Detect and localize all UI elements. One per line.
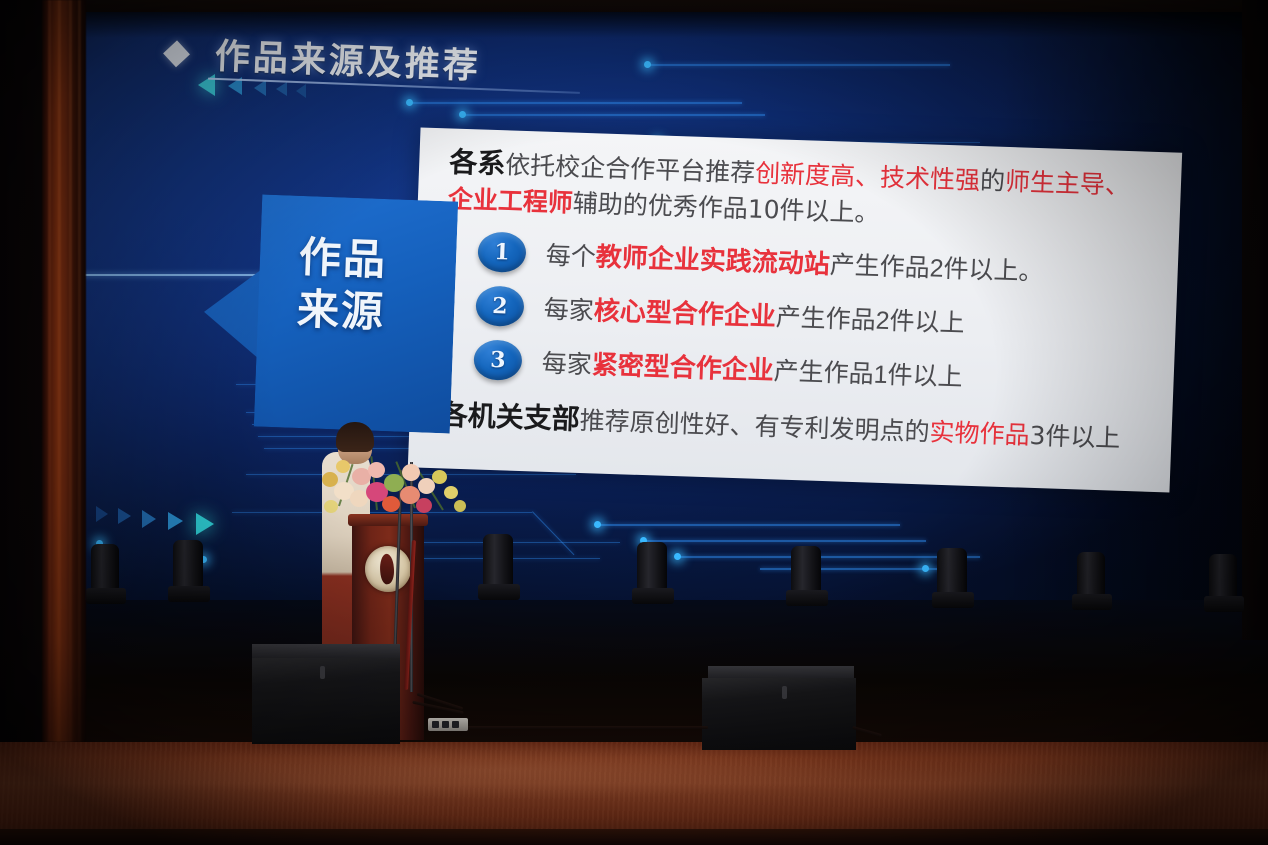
moving-head-light <box>478 534 520 600</box>
moving-head-light <box>1204 554 1244 612</box>
slide-section-tag: 作品 来源 <box>222 198 454 430</box>
tail-mid: 推荐原创性好、有专利发明点的 <box>579 406 930 447</box>
flower-bouquet-icon <box>318 452 470 538</box>
slide-content-panel: 各系依托校企合作平台推荐创新度高、技术性强的师生主导、 企业工程师辅助的优秀作品… <box>408 127 1182 492</box>
badge-number-1: 1 <box>477 231 526 273</box>
floor-monitor-speaker <box>252 644 402 744</box>
tag-line-1: 作品 <box>298 231 450 288</box>
list-item-text: 每个教师企业实践流动站产生作品2件以上。 <box>545 235 1044 288</box>
tail-bold: 各机关支部 <box>439 398 580 436</box>
list-item-text: 每家紧密型合作企业产生作品1件以上 <box>541 343 963 394</box>
school-emblem-icon <box>365 546 411 592</box>
moving-head-light <box>786 546 828 606</box>
tail-highlight: 实物作品 <box>929 418 1030 450</box>
moving-head-light <box>632 542 674 604</box>
badge-number-3: 3 <box>473 339 522 381</box>
item1-prefix: 每个 <box>545 242 596 272</box>
stage-floor <box>0 742 1268 845</box>
lead-part3: 创新度高、技术性强 <box>755 159 981 195</box>
slide-content-wrapper: 各系依托校企合作平台推荐创新度高、技术性强的师生主导、 企业工程师辅助的优秀作品… <box>0 0 1268 845</box>
lead-part1: 各系 <box>449 145 506 180</box>
stage-curtain <box>42 0 86 742</box>
item3-highlight: 紧密型合作企业 <box>591 349 774 385</box>
stage-photo: 作品来源及推荐 各系依托校企合作平台推荐创新度高、技术性强的师生主导、 企业工程… <box>0 0 1268 845</box>
tail-suffix: 3件以上 <box>1029 421 1121 453</box>
item3-prefix: 每家 <box>541 350 592 380</box>
item2-highlight: 核心型合作企业 <box>593 295 776 331</box>
badge-label: 3 <box>473 339 522 381</box>
moving-head-light <box>932 548 974 608</box>
floor-cable <box>466 726 708 729</box>
tag-text: 作品 来源 <box>296 231 450 340</box>
tag-line-2: 来源 <box>296 283 448 340</box>
item2-prefix: 每家 <box>543 296 594 326</box>
item2-suffix: 产生作品2件以上 <box>775 303 965 337</box>
speaker-hair <box>336 422 374 452</box>
moving-head-light <box>86 544 126 604</box>
moving-head-light <box>168 540 210 602</box>
badge-label: 2 <box>475 285 524 327</box>
power-strip <box>428 718 468 731</box>
lead-line2-red: 企业工程师 <box>447 184 573 217</box>
hall-right-wall <box>1242 0 1268 640</box>
item1-suffix: 产生作品2件以上。 <box>829 251 1044 286</box>
item3-suffix: 产生作品1件以上 <box>773 357 963 391</box>
lead-part4: 的 <box>979 166 1005 196</box>
badge-label: 1 <box>477 231 526 273</box>
floor-monitor-speaker <box>702 666 856 750</box>
lead-part5: 师生主导、 <box>1004 167 1130 200</box>
list-item-text: 每家核心型合作企业产生作品2件以上 <box>543 289 965 340</box>
stage-front-edge <box>0 829 1268 845</box>
badge-number-2: 2 <box>475 285 524 327</box>
lead-line2-rest: 辅助的优秀作品10件以上。 <box>572 189 880 228</box>
moving-head-light <box>1072 552 1112 610</box>
item1-highlight: 教师企业实践流动站 <box>595 241 830 279</box>
